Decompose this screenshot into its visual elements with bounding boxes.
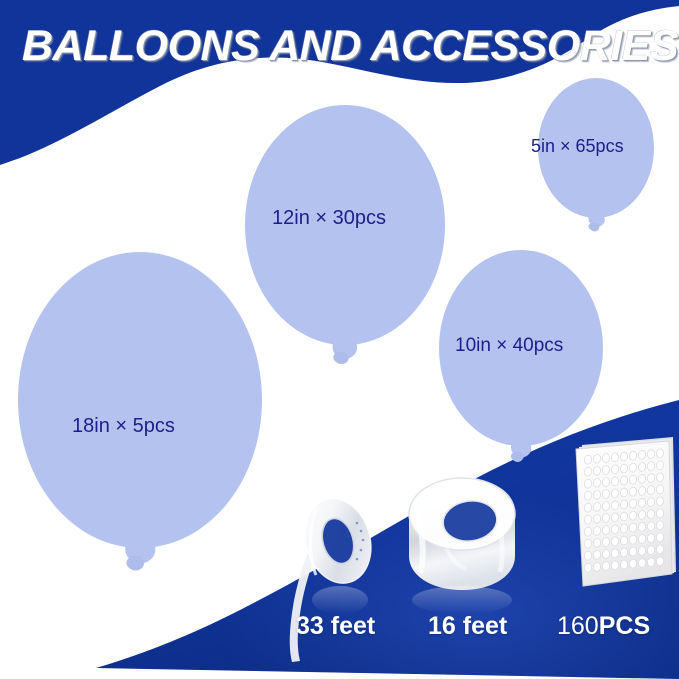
product-infographic: BALLOONS AND ACCESSORIES 18in × 5pcs 12i… xyxy=(0,0,679,679)
accessory-glue-dots xyxy=(576,437,676,586)
accessory-illustrations xyxy=(0,0,679,679)
accessory-ribbon-roll xyxy=(290,491,381,662)
accessory-tape-roll xyxy=(409,478,515,614)
